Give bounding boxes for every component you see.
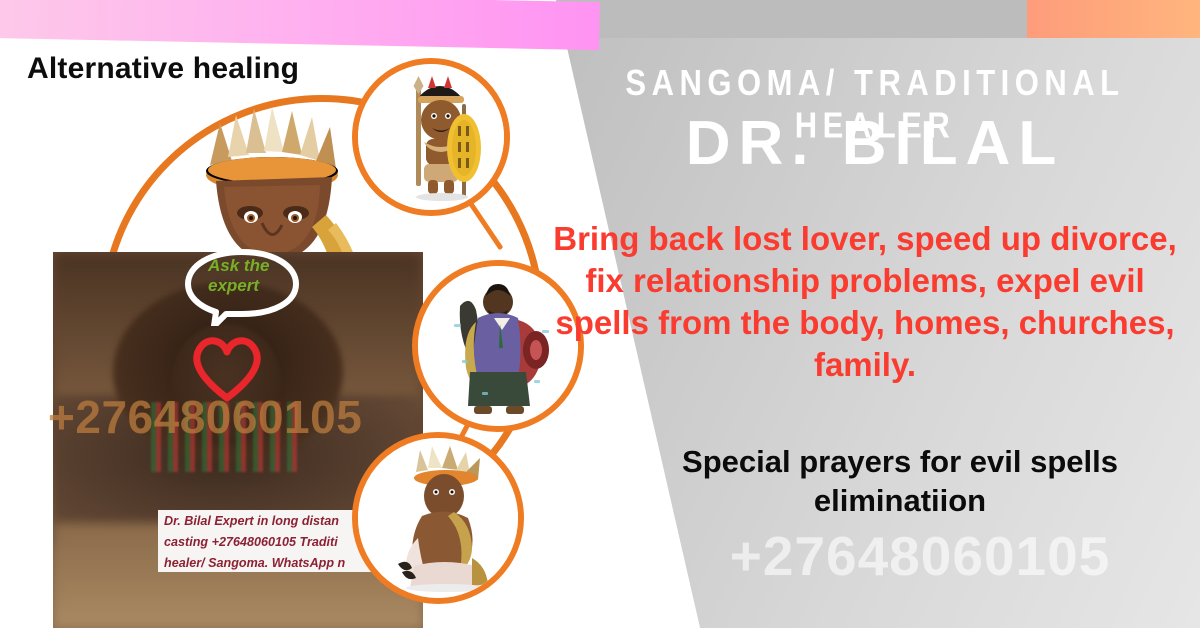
grey-top-strip bbox=[556, 0, 1028, 38]
page-title: Alternative healing bbox=[27, 52, 299, 86]
zulu-warrior-icon bbox=[358, 64, 504, 210]
crouching-sangoma-icon bbox=[358, 438, 518, 598]
ghost-phone-number: +27648060105 bbox=[640, 524, 1200, 588]
circle-zulu-warrior bbox=[352, 58, 510, 216]
orange-accent-block bbox=[1027, 0, 1200, 38]
services-text: Bring back lost lover, speed up divorce,… bbox=[540, 218, 1190, 386]
speech-bubble-label: Ask the expert bbox=[208, 256, 300, 296]
pink-accent-strip bbox=[0, 0, 600, 50]
healer-name: DR. BILAL bbox=[560, 108, 1190, 179]
photo-watermark-number: +27648060105 bbox=[48, 390, 448, 444]
circle-crouching-sangoma bbox=[352, 432, 524, 604]
poster-canvas: Alternative healing bbox=[0, 0, 1200, 628]
prayers-text: Special prayers for evil spells eliminat… bbox=[600, 442, 1200, 521]
